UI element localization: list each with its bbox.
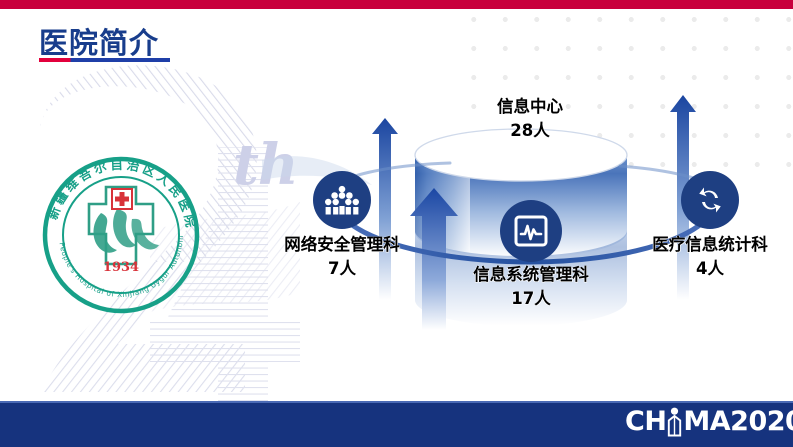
slide-canvas: th 医院简介 1934 [0, 0, 793, 447]
dept-label-medical-statistics: 医疗信息统计科 4人 [620, 234, 793, 282]
dept-label-information-system: 信息系统管理科 17人 [441, 264, 621, 312]
title-underline [39, 58, 170, 62]
monitor-pulse-icon [514, 215, 548, 247]
footer-top-rule [0, 401, 793, 403]
page-title: 医院简介 [39, 20, 159, 62]
dept-name-2: 医疗信息统计科 [620, 234, 793, 256]
svg-text:1934: 1934 [103, 260, 139, 275]
chima-logo-post: MA2020 [683, 408, 793, 435]
chima-figure-i-icon [666, 407, 683, 437]
sync-refresh-icon [693, 184, 727, 216]
dept-label-network-security: 网络安全管理科 7人 [252, 234, 432, 282]
center-node-label: 信息中心 28人 [430, 96, 630, 144]
hospital-logo: 1934 新疆维吾尔自治区人民医院 People's Hospital of X… [33, 147, 209, 323]
dept-count-2: 4人 [620, 256, 793, 282]
top-accent-bar [0, 0, 793, 9]
dept-count-0: 7人 [252, 256, 432, 282]
chima-logo: CH MA2020 [625, 405, 793, 438]
people-group-icon [325, 185, 359, 215]
dept-icon-medical-statistics[interactable] [681, 171, 739, 229]
chima-logo-pre: CH [625, 408, 666, 435]
dept-name-1: 信息系统管理科 [441, 264, 621, 286]
dept-icon-information-system[interactable] [500, 200, 562, 262]
center-node-name: 信息中心 [430, 96, 630, 118]
dept-name-0: 网络安全管理科 [252, 234, 432, 256]
dept-icon-network-security[interactable] [313, 171, 371, 229]
center-node-count: 28人 [430, 118, 630, 144]
dept-count-1: 17人 [441, 286, 621, 312]
